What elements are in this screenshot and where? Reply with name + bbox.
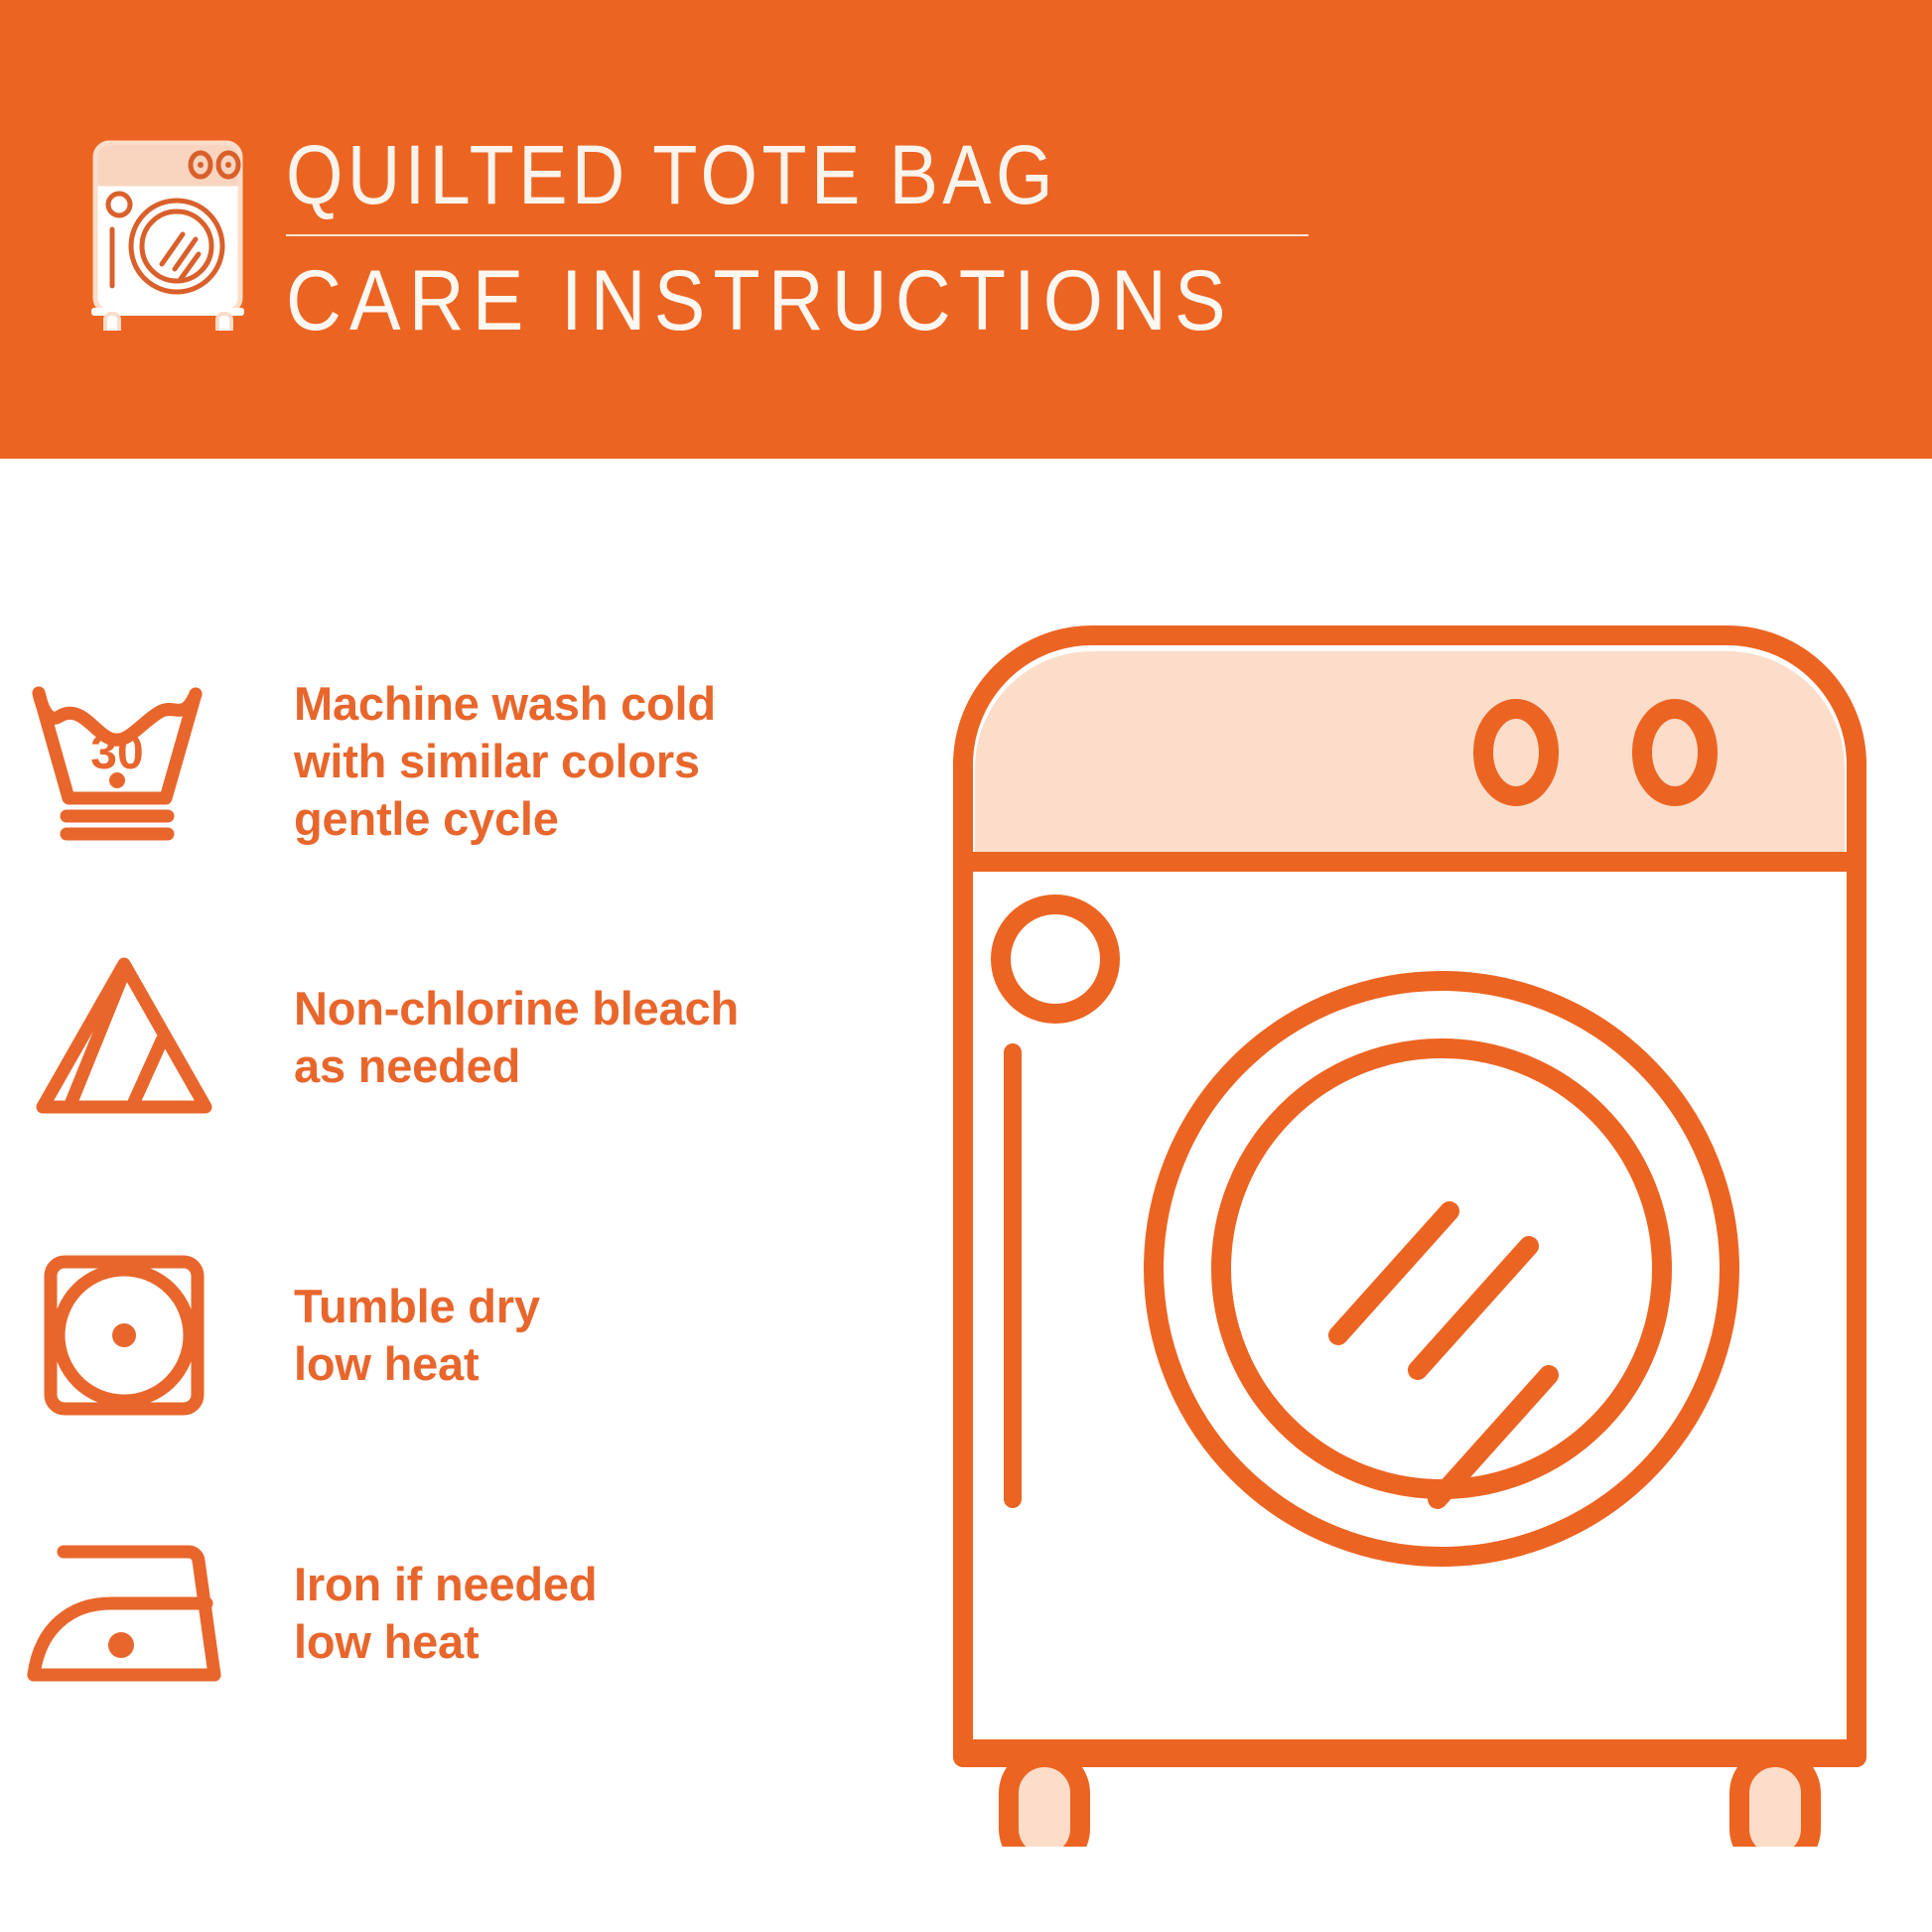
washing-machine-icon <box>85 137 250 331</box>
non-chlorine-bleach-triangle-icon <box>0 933 248 1142</box>
wash-temperature-value: 30 <box>90 727 143 779</box>
title-divider <box>286 234 1309 236</box>
header-banner: QUILTED TOTE BAG CARE INSTRUCTIONS <box>0 0 1932 459</box>
care-row: Non-chlorine bleach as needed <box>0 933 933 1142</box>
care-instructions-page: QUILTED TOTE BAG CARE INSTRUCTIONS <box>0 0 1932 1932</box>
page-subtitle: CARE INSTRUCTIONS <box>286 254 1215 347</box>
care-label: Non-chlorine bleach as needed <box>248 980 739 1095</box>
leg-left <box>1009 1757 1080 1847</box>
page-title: QUILTED TOTE BAG <box>286 129 1194 220</box>
tumble-dry-low-heat-icon <box>0 1231 248 1440</box>
care-row: Iron if needed low heat <box>0 1509 933 1718</box>
care-label: Iron if needed low heat <box>248 1556 597 1671</box>
iron-low-heat-icon <box>0 1509 248 1718</box>
header-text-block: QUILTED TOTE BAG CARE INSTRUCTIONS <box>286 129 1318 347</box>
washing-machine-illustration <box>953 625 1866 1847</box>
leg-right <box>1739 1757 1811 1847</box>
care-row: 30 Machine wash cold with similar colors… <box>0 657 933 866</box>
care-label: Machine wash cold with similar colors ge… <box>248 675 716 848</box>
care-row: Tumble dry low heat <box>0 1231 933 1440</box>
wash-tub-30-gentle-icon: 30 <box>0 657 248 866</box>
care-label: Tumble dry low heat <box>248 1278 540 1393</box>
machine-base <box>963 1739 1857 1765</box>
